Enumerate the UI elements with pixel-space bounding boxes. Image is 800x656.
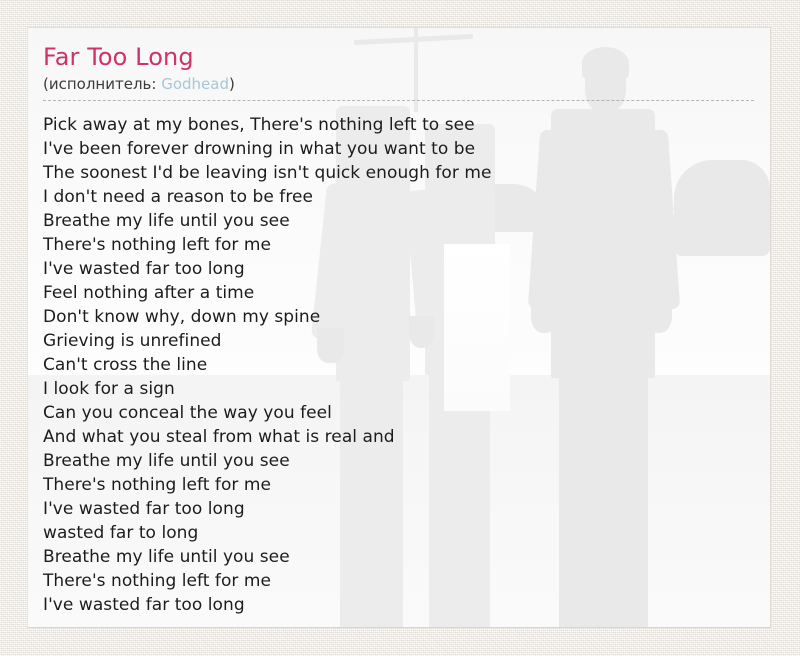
- lyric-line: There's nothing left for me: [43, 569, 754, 593]
- lyric-line: I've been forever drowning in what you w…: [43, 137, 754, 161]
- lyric-line: I look for a sign: [43, 377, 754, 401]
- page-frame: Far Too Long (исполнитель: Godhead) Pick…: [0, 0, 800, 656]
- lyric-line: Grieving is unrefined: [43, 329, 754, 353]
- lyric-line: I don't need a reason to be free: [43, 185, 754, 209]
- page-title: Far Too Long: [43, 43, 754, 71]
- lyrics-body: Pick away at my bones, There's nothing l…: [28, 101, 770, 617]
- artist-line: (исполнитель: Godhead): [43, 74, 754, 94]
- lyric-line: Don't know why, down my spine: [43, 305, 754, 329]
- lyric-line: Breathe my life until you see: [43, 209, 754, 233]
- artist-link[interactable]: Godhead: [161, 75, 229, 93]
- lyric-line: Can you conceal the way you feel: [43, 401, 754, 425]
- lyric-line: Pick away at my bones, There's nothing l…: [43, 113, 754, 137]
- lyric-line: I've wasted far too long: [43, 593, 754, 617]
- lyric-line: The soonest I'd be leaving isn't quick e…: [43, 161, 754, 185]
- artist-label: (исполнитель:: [43, 75, 161, 93]
- artist-suffix: ): [229, 75, 235, 93]
- lyric-line: Feel nothing after a time: [43, 281, 754, 305]
- lyric-line: I've wasted far too long: [43, 257, 754, 281]
- lyric-line: Breathe my life until you see: [43, 545, 754, 569]
- lyric-line: Can't cross the line: [43, 353, 754, 377]
- lyric-line: There's nothing left for me: [43, 233, 754, 257]
- song-header: Far Too Long (исполнитель: Godhead): [28, 28, 770, 101]
- lyric-line: And what you steal from what is real and: [43, 425, 754, 449]
- lyric-line: There's nothing left for me: [43, 473, 754, 497]
- lyric-line: Breathe my life until you see: [43, 449, 754, 473]
- lyric-line: wasted far to long: [43, 521, 754, 545]
- lyrics-card: Far Too Long (исполнитель: Godhead) Pick…: [27, 27, 771, 628]
- lyric-line: I've wasted far too long: [43, 497, 754, 521]
